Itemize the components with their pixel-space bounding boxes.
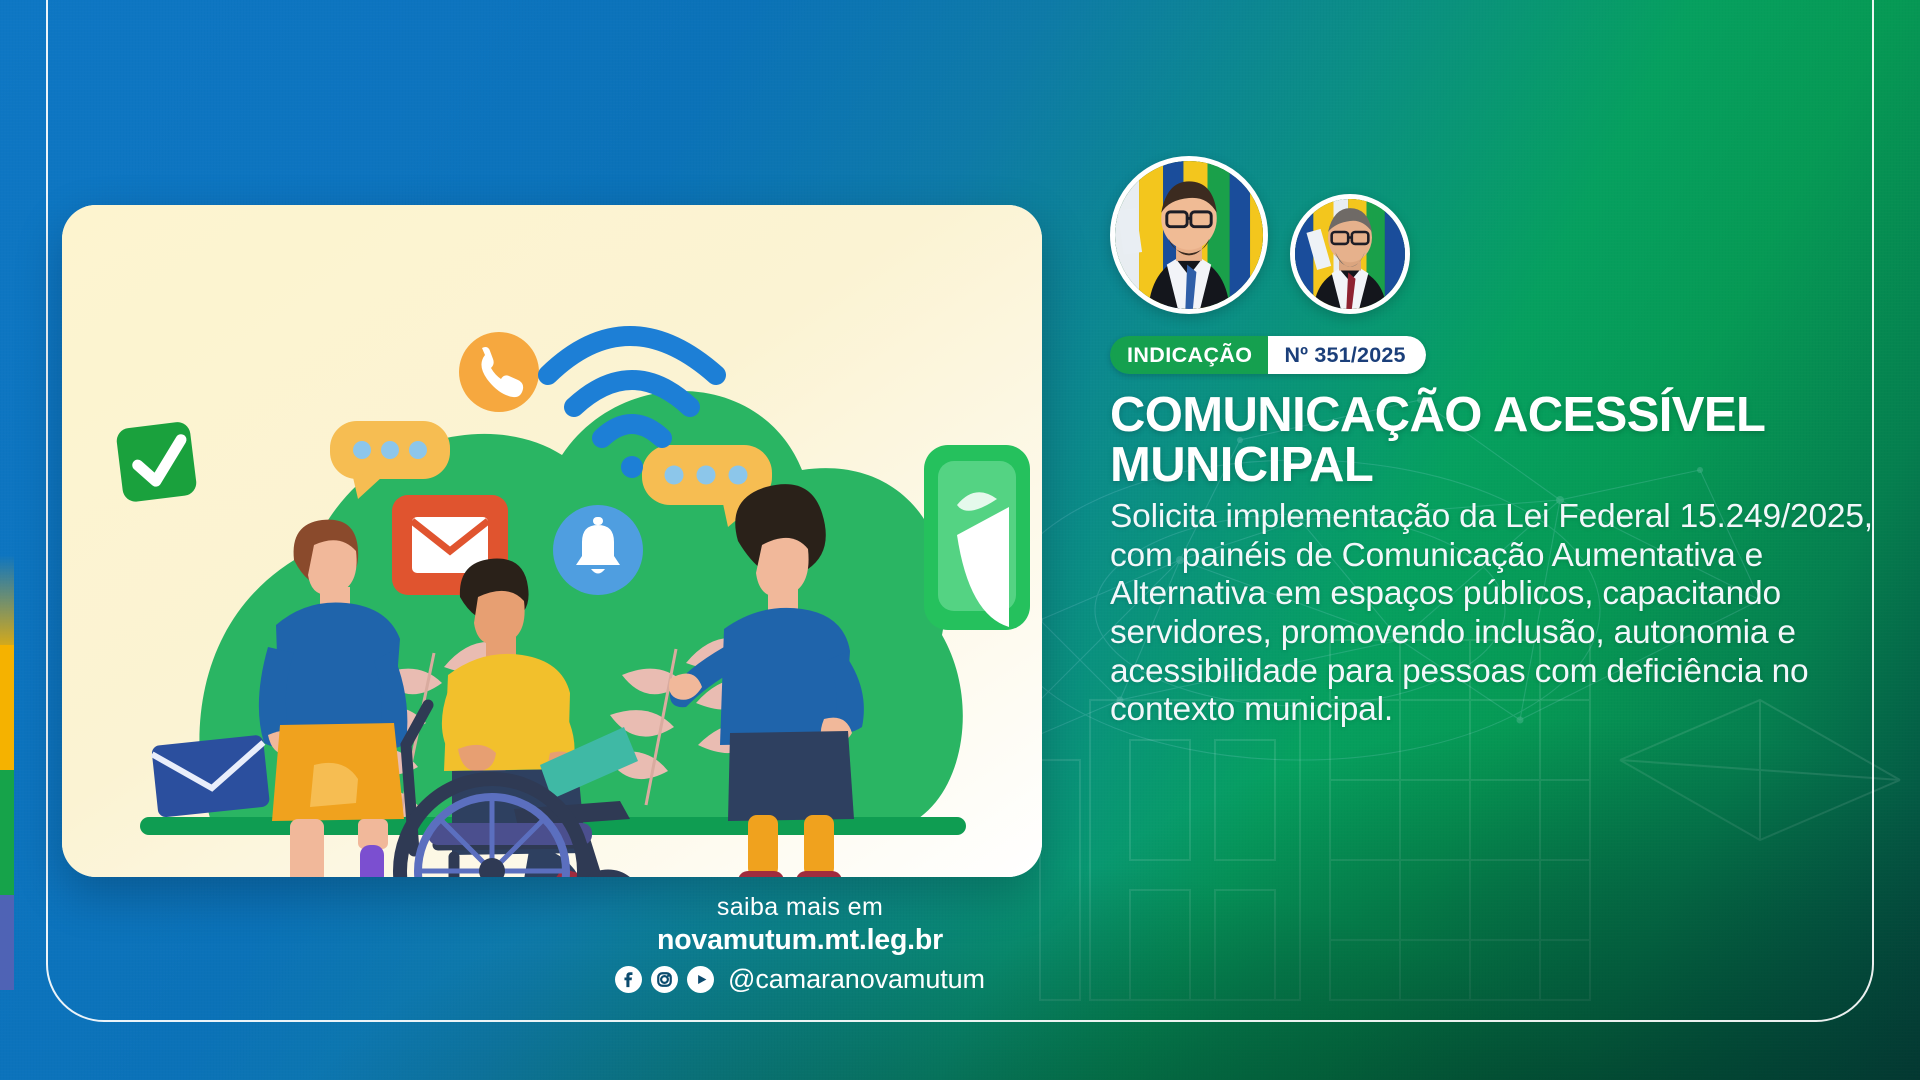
banner-content: INDICAÇÃO Nº 351/2025 COMUNICAÇÃO ACESSÍ… (1110, 188, 1880, 730)
proposal-badge-pill: INDICAÇÃO Nº 351/2025 (1110, 336, 1426, 374)
proposal-summary: Solicita implementação da Lei Federal 15… (1110, 498, 1880, 730)
bell-notification-icon (553, 505, 643, 595)
footer-social-handle[interactable]: @camaranovamutum (728, 964, 985, 995)
edge-accent-yellow (0, 645, 14, 770)
facebook-icon[interactable] (615, 966, 642, 993)
edge-accent-green (0, 770, 14, 895)
phone-call-icon (459, 332, 539, 412)
footer-website[interactable]: novamutum.mt.leg.br (615, 924, 985, 957)
footer-social-row: @camaranovamutum (615, 964, 985, 995)
checkmark-icon (115, 421, 197, 503)
accessible-communication-illustration (62, 205, 1042, 877)
councilor-avatars (1110, 188, 1880, 314)
envelope-icon (151, 735, 270, 818)
footer-kicker: saiba mais em (615, 893, 985, 922)
footer: saiba mais em novamutum.mt.leg.br @camar… (0, 893, 1920, 998)
proposal-title: COMUNICAÇÃO ACESSÍVEL MUNICIPAL (1110, 390, 1880, 491)
mobile-phone-icon (924, 445, 1030, 630)
youtube-icon[interactable] (687, 966, 714, 993)
proposal-badges: INDICAÇÃO Nº 351/2025 (1110, 336, 1880, 374)
illustration-card (62, 205, 1042, 877)
avatar-councilor-primary[interactable] (1110, 156, 1268, 314)
instagram-icon[interactable] (651, 966, 678, 993)
avatar-councilor-secondary[interactable] (1290, 194, 1410, 314)
badge-number-label: Nº 351/2025 (1268, 336, 1425, 374)
badge-kind-label: INDICAÇÃO (1110, 336, 1268, 374)
